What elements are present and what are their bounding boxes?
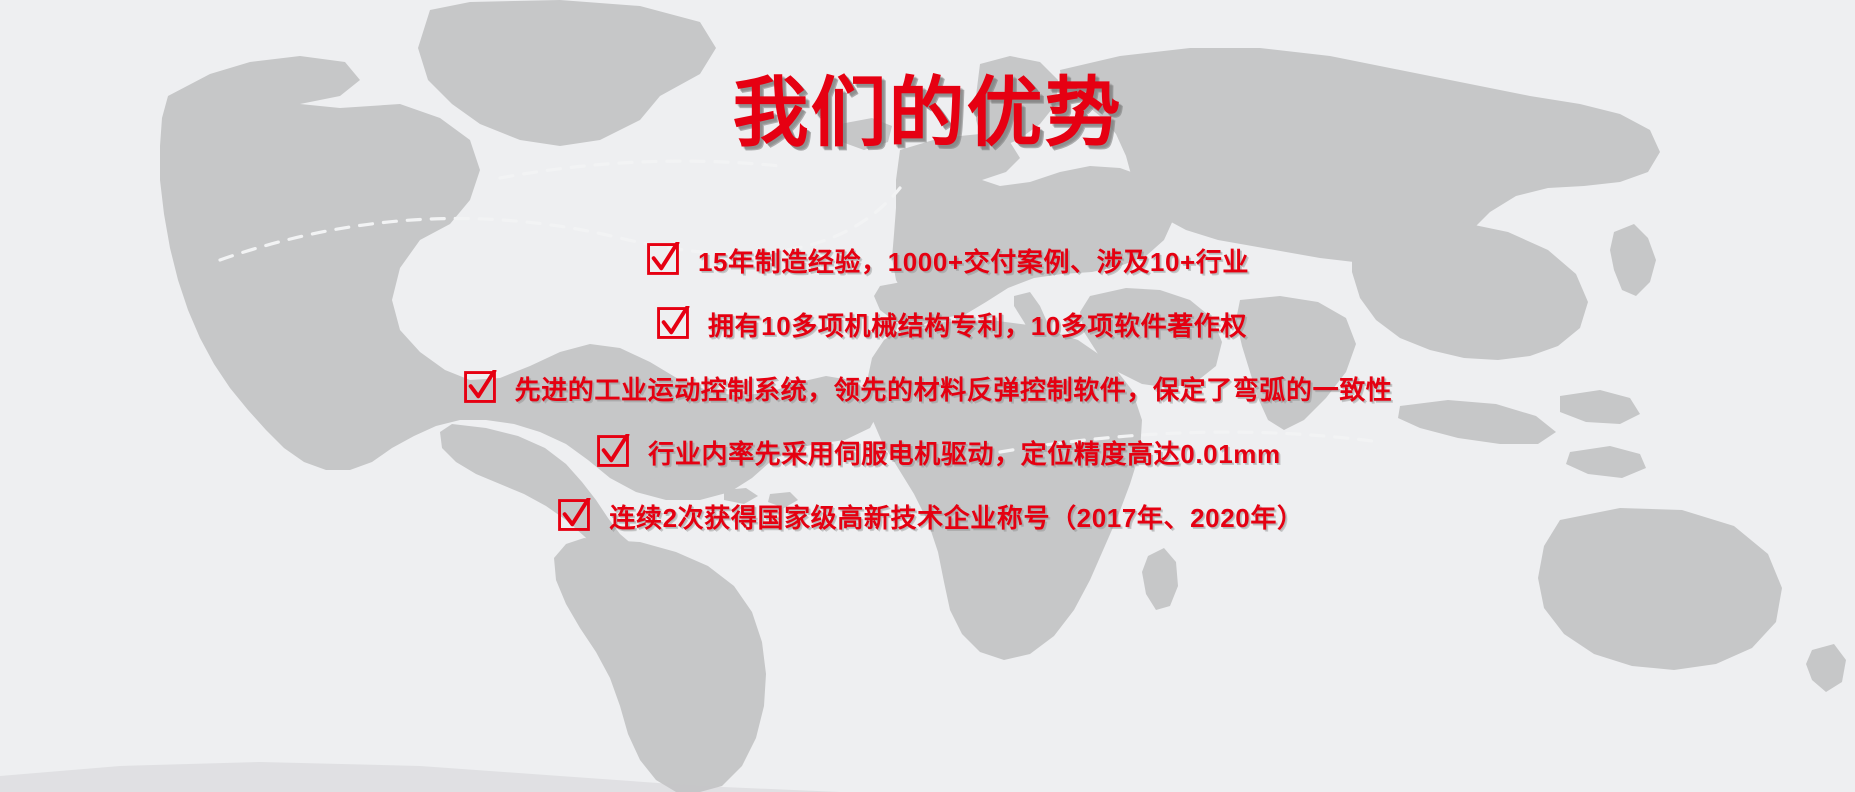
checkbox-checked-icon: [596, 434, 630, 468]
list-item-label: 先进的工业运动控制系统，领先的材料反弹控制软件，保定了弯弧的一致性: [515, 370, 1393, 407]
checkbox-checked-icon: [557, 498, 591, 532]
checkbox-checked-icon: [656, 306, 690, 340]
list-item: 行业内率先采用伺服电机驱动，定位精度高达0.01mm: [0, 420, 1855, 484]
list-item: 先进的工业运动控制系统，领先的材料反弹控制软件，保定了弯弧的一致性: [0, 356, 1855, 420]
advantages-banner: 我们的优势 15年制造经验，1000+交付案例、涉及10+行业: [0, 0, 1855, 792]
page-title: 我们的优势: [0, 74, 1855, 154]
checkbox-checked-icon: [463, 370, 497, 404]
list-item-label: 15年制造经验，1000+交付案例、涉及10+行业: [698, 242, 1249, 279]
page-title-text: 我们的优势: [733, 74, 1123, 154]
list-item: 15年制造经验，1000+交付案例、涉及10+行业: [0, 228, 1855, 292]
advantages-list: 15年制造经验，1000+交付案例、涉及10+行业 拥有10多项机械结构专利，1…: [0, 228, 1855, 548]
list-item: 连续2次获得国家级高新技术企业称号（2017年、2020年）: [0, 484, 1855, 548]
checkbox-checked-icon: [646, 242, 680, 276]
list-item-label: 连续2次获得国家级高新技术企业称号（2017年、2020年）: [609, 498, 1303, 535]
banner-content: 我们的优势 15年制造经验，1000+交付案例、涉及10+行业: [0, 0, 1855, 792]
list-item: 拥有10多项机械结构专利，10多项软件著作权: [0, 292, 1855, 356]
list-item-label: 拥有10多项机械结构专利，10多项软件著作权: [708, 306, 1247, 343]
list-item-label: 行业内率先采用伺服电机驱动，定位精度高达0.01mm: [648, 434, 1280, 471]
